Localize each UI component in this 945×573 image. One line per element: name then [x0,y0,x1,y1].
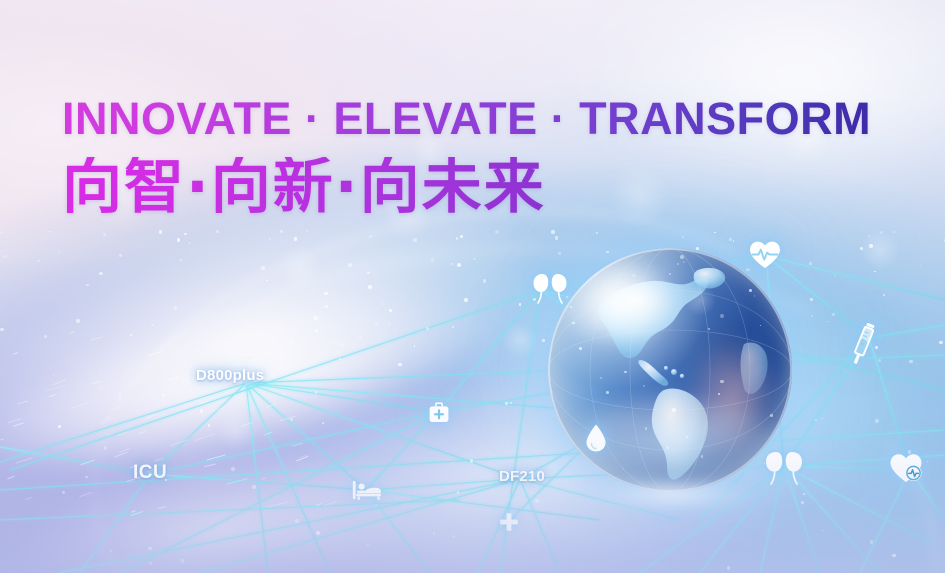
node-label-icu: ICU [133,462,167,484]
medical-cross-icon [499,512,519,532]
kidneys-icon [530,272,570,306]
kidneys-icon [762,450,806,486]
earth-globe [548,248,792,492]
water-drop-icon [584,423,608,453]
headline-chinese: 向智·向新·向未来 [62,157,902,217]
medical-kit-icon [428,402,450,424]
syringe-icon [852,322,874,366]
heart-pulse-icon [888,452,924,484]
globe-ground-glow [558,472,784,518]
heart-ecg-icon [748,240,782,270]
hospital-bed-icon [352,479,382,501]
headline-english: INNOVATE · ELEVATE · TRANSFORM [62,96,902,141]
node-label-df210: DF210 [499,468,545,485]
headline-block: INNOVATE · ELEVATE · TRANSFORM 向智·向新·向未来 [62,96,902,217]
hero-banner: D800plus ICU DF210 INNOVATE · ELEVATE · … [0,0,945,573]
node-label-d800plus: D800plus [196,367,264,384]
